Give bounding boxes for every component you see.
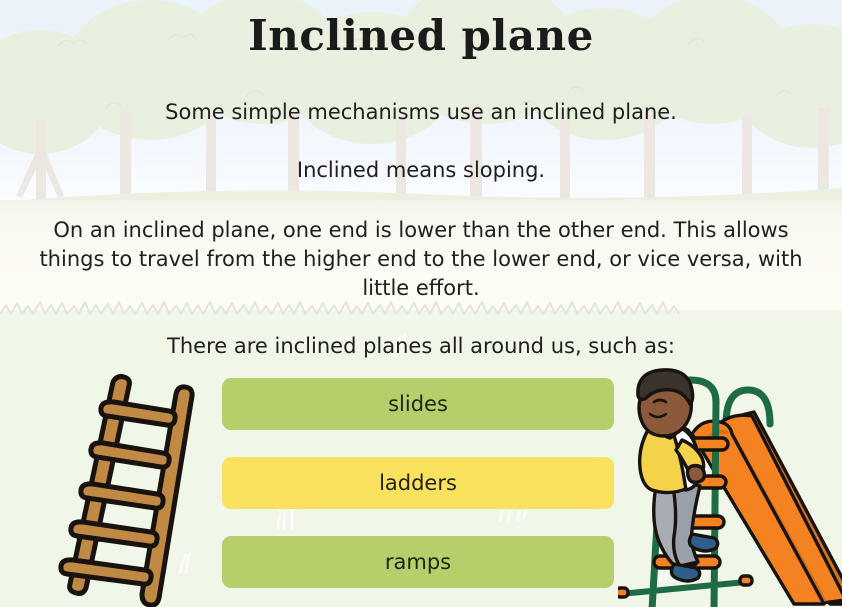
option-button-slides[interactable]: slides bbox=[222, 378, 614, 430]
examples-prompt: There are inclined planes all around us,… bbox=[0, 334, 842, 358]
option-button-ramps[interactable]: ramps bbox=[222, 536, 614, 588]
option-label: ladders bbox=[379, 471, 457, 495]
option-label: ramps bbox=[385, 550, 451, 574]
page-title: Inclined plane bbox=[0, 11, 842, 60]
option-button-ladders[interactable]: ladders bbox=[222, 457, 614, 509]
intro-line-2: Inclined means sloping. bbox=[0, 158, 842, 182]
option-label: slides bbox=[388, 392, 448, 416]
example-options-list: slides ladders ramps bbox=[222, 378, 614, 607]
slide-canvas: Inclined plane Some simple mechanisms us… bbox=[0, 0, 842, 607]
intro-line-1: Some simple mechanisms use an inclined p… bbox=[0, 100, 842, 124]
explanation-paragraph: On an inclined plane, one end is lower t… bbox=[21, 216, 821, 303]
